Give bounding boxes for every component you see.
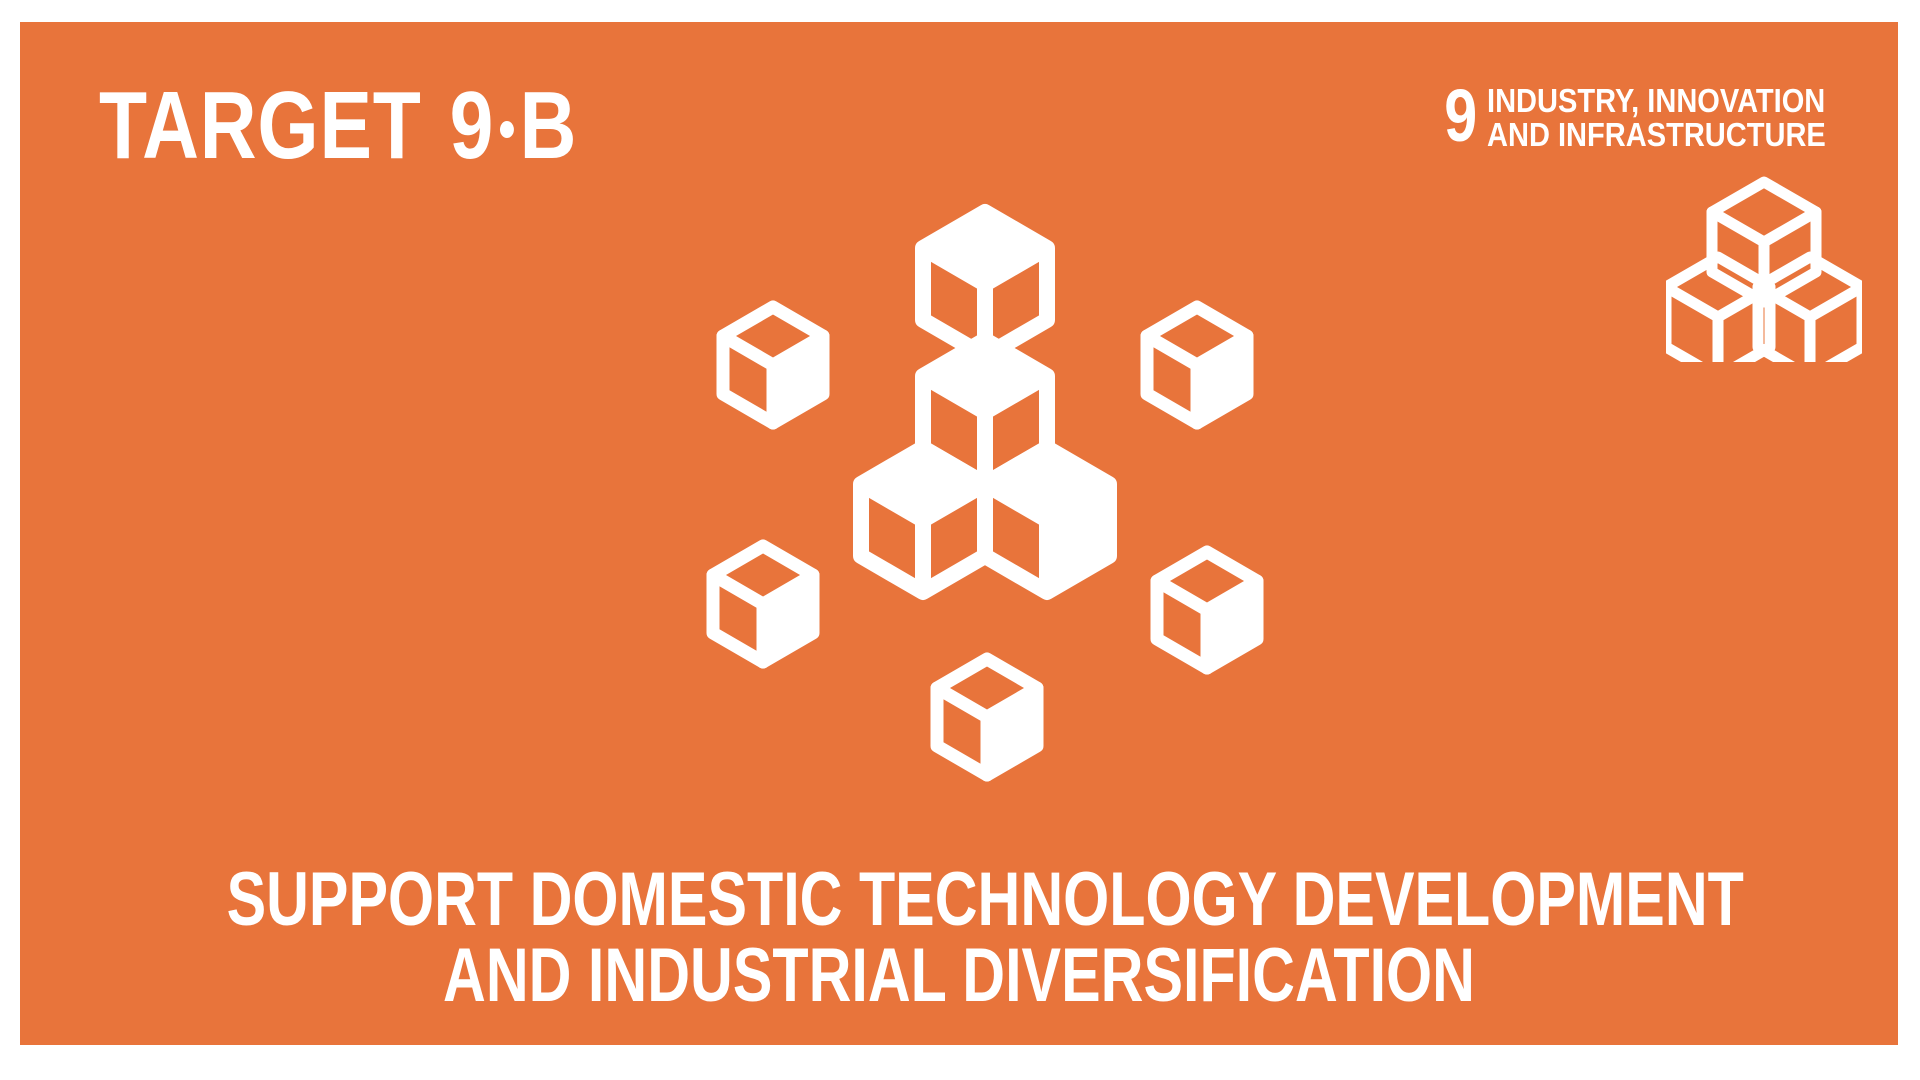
target-number: 9 bbox=[450, 72, 495, 179]
target-letter: B bbox=[520, 72, 578, 179]
sdg-target-card: TARGET9B 9 INDUSTRY, INNOVATION AND INFR… bbox=[20, 22, 1898, 1045]
sdg-goal-title-line1: INDUSTRY, INNOVATION bbox=[1487, 84, 1825, 118]
target-separator-dot bbox=[500, 121, 514, 138]
cube-cluster-icon bbox=[1666, 172, 1862, 367]
sdg-badge-header: 9 INDUSTRY, INNOVATION AND INFRASTRUCTUR… bbox=[1436, 82, 1872, 152]
sdg-goal-title-line2: AND INFRASTRUCTURE bbox=[1487, 118, 1826, 152]
target-description-line1: SUPPORT DOMESTIC TECHNOLOGY DEVELOPMENT bbox=[227, 862, 1692, 938]
target-description-line2: AND INDUSTRIAL DIVERSIFICATION bbox=[227, 938, 1692, 1014]
sdg-goal-number: 9 bbox=[1444, 82, 1477, 150]
target-title: TARGET9B bbox=[99, 78, 577, 174]
sdg-goal-badge: 9 INDUSTRY, INNOVATION AND INFRASTRUCTUR… bbox=[1436, 82, 1872, 367]
target-description: SUPPORT DOMESTIC TECHNOLOGY DEVELOPMENT … bbox=[20, 862, 1898, 1014]
target-label: TARGET bbox=[99, 72, 422, 179]
network-of-cubes-illustration bbox=[655, 172, 1315, 852]
center-cluster bbox=[861, 212, 1109, 592]
sdg-goal-title: INDUSTRY, INNOVATION AND INFRASTRUCTURE bbox=[1487, 82, 1872, 152]
